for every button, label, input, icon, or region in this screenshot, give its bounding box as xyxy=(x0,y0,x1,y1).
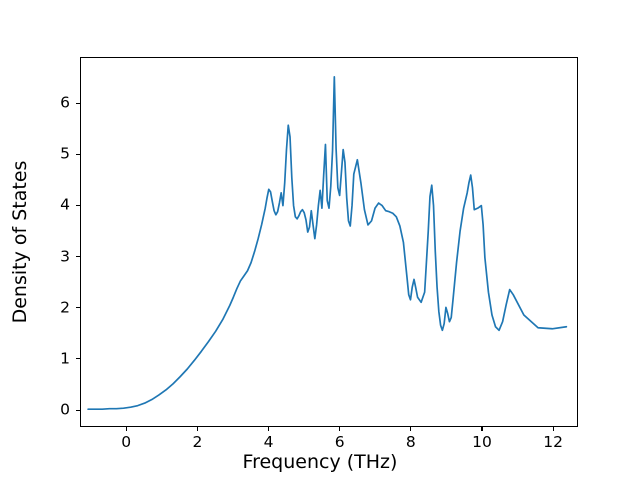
y-axis-label-container: Density of States xyxy=(0,0,40,480)
dos-curve-svg xyxy=(81,58,577,426)
x-axis-label: Frequency (THz) xyxy=(0,451,640,473)
y-axis-label: Density of States xyxy=(9,161,31,324)
x-tick-mark xyxy=(410,427,411,431)
x-tick-mark xyxy=(268,427,269,431)
x-tick-mark xyxy=(553,427,554,431)
y-tick-label-3: 3 xyxy=(48,249,70,265)
x-tick-label-12: 12 xyxy=(543,435,563,451)
x-tick-mark xyxy=(481,427,482,431)
y-tick-label-1: 1 xyxy=(48,351,70,367)
x-tick-label-8: 8 xyxy=(406,435,416,451)
x-tick-mark xyxy=(197,427,198,431)
x-tick-label-10: 10 xyxy=(472,435,492,451)
phonon-dos-figure: Density of States 0123456 024681012 Freq… xyxy=(0,0,640,480)
plot-area xyxy=(80,57,578,427)
y-tick-label-6: 6 xyxy=(48,95,70,111)
y-tick-label-5: 5 xyxy=(48,146,70,162)
dos-line-series xyxy=(88,77,566,409)
x-tick-label-2: 2 xyxy=(192,435,202,451)
x-tick-label-0: 0 xyxy=(121,435,131,451)
y-tick-label-0: 0 xyxy=(48,402,70,418)
y-tick-label-4: 4 xyxy=(48,198,70,214)
y-tick-label-2: 2 xyxy=(48,300,70,316)
x-tick-label-6: 6 xyxy=(335,435,345,451)
x-tick-mark xyxy=(339,427,340,431)
x-tick-mark xyxy=(126,427,127,431)
x-tick-label-4: 4 xyxy=(264,435,274,451)
